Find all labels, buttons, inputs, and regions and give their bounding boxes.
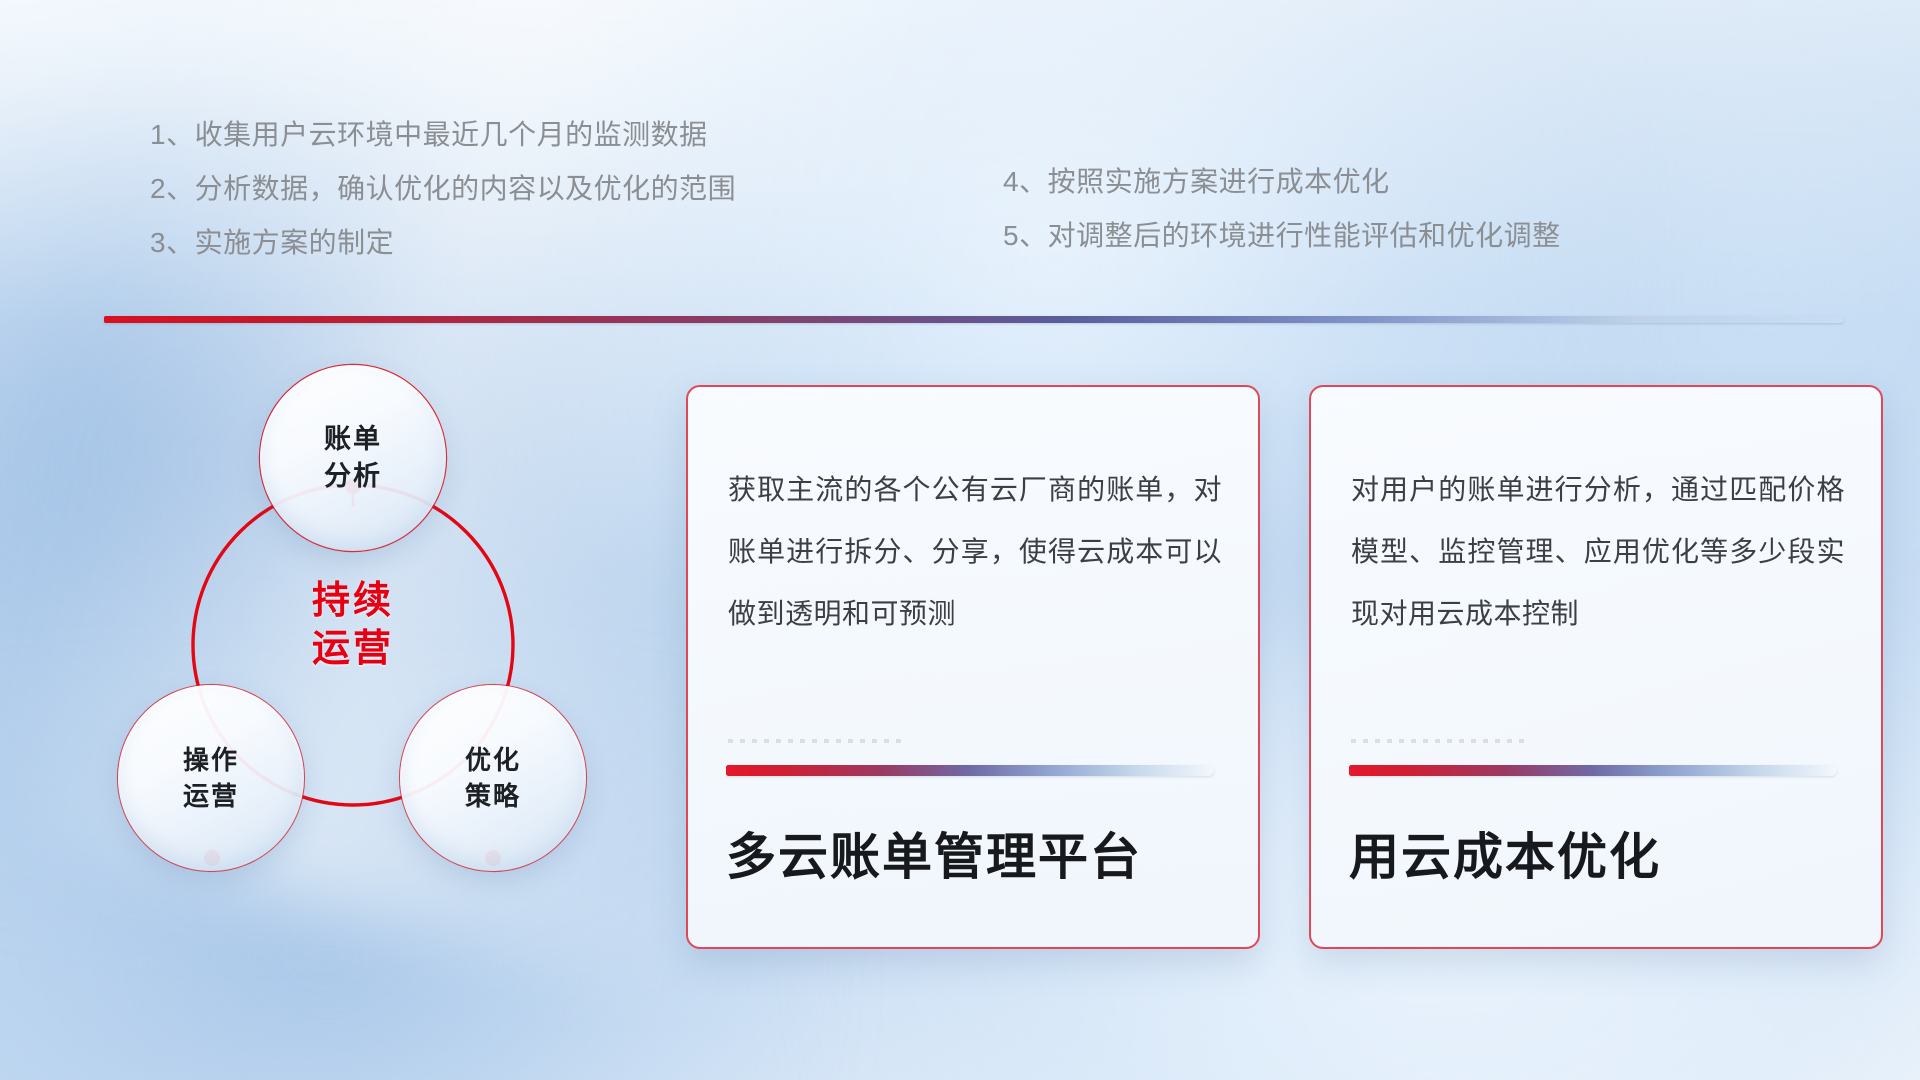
step-item-2: 2、分析数据，确认优化的内容以及优化的范围 (150, 162, 736, 216)
card-body-text: 获取主流的各个公有云厂商的账单，对账单进行拆分、分享，使得云成本可以做到透明和可… (728, 459, 1222, 645)
venn-bubble-label-line2: 分析 (324, 458, 382, 495)
card-title: 多云账单管理平台 (726, 819, 1228, 895)
venn-bubble-label-line1: 账单 (324, 421, 382, 458)
steps-left-column: 1、收集用户云环境中最近几个月的监测数据 2、分析数据，确认优化的内容以及优化的… (150, 108, 736, 270)
venn-bubble-label-line2: 运营 (183, 778, 239, 814)
card-texture-dots (728, 739, 908, 743)
venn-bubble-optimization-strategy[interactable]: 优化 策略 (400, 685, 586, 871)
card-title: 用云成本优化 (1349, 819, 1851, 895)
card-accent-divider (1349, 765, 1837, 776)
venn-center-label-line1: 持续 (278, 577, 428, 625)
step-item-4: 4、按照实施方案进行成本优化 (1003, 155, 1561, 209)
card-cloud-cost-optimization[interactable]: 对用户的账单进行分析，通过匹配价格模型、监控管理、应用优化等多少段实现对用云成本… (1309, 385, 1883, 949)
step-item-5: 5、对调整后的环境进行性能评估和优化调整 (1003, 209, 1561, 263)
venn-bubble-billing-analysis[interactable]: 账单 分析 (260, 365, 446, 551)
venn-center-label: 持续 运营 (278, 577, 428, 673)
section-divider-rule (104, 316, 1844, 323)
venn-center-label-line2: 运营 (278, 625, 428, 673)
card-accent-divider (726, 765, 1214, 776)
card-multi-cloud-billing-platform[interactable]: 获取主流的各个公有云厂商的账单，对账单进行拆分、分享，使得云成本可以做到透明和可… (686, 385, 1260, 949)
venn-bubble-label-line2: 策略 (465, 778, 521, 814)
venn-bubble-operations[interactable]: 操作 运营 (118, 685, 304, 871)
venn-bubble-label-line1: 操作 (183, 742, 239, 778)
steps-right-column: 4、按照实施方案进行成本优化 5、对调整后的环境进行性能评估和优化调整 (1003, 155, 1561, 263)
venn-bubble-label-line1: 优化 (465, 742, 521, 778)
card-body-text: 对用户的账单进行分析，通过匹配价格模型、监控管理、应用优化等多少段实现对用云成本… (1351, 459, 1845, 645)
card-texture-dots (1351, 739, 1531, 743)
step-item-3: 3、实施方案的制定 (150, 216, 736, 270)
step-item-1: 1、收集用户云环境中最近几个月的监测数据 (150, 108, 736, 162)
venn-diagram: 账单 分析 操作 运营 优化 策略 持续 运营 (100, 355, 620, 945)
